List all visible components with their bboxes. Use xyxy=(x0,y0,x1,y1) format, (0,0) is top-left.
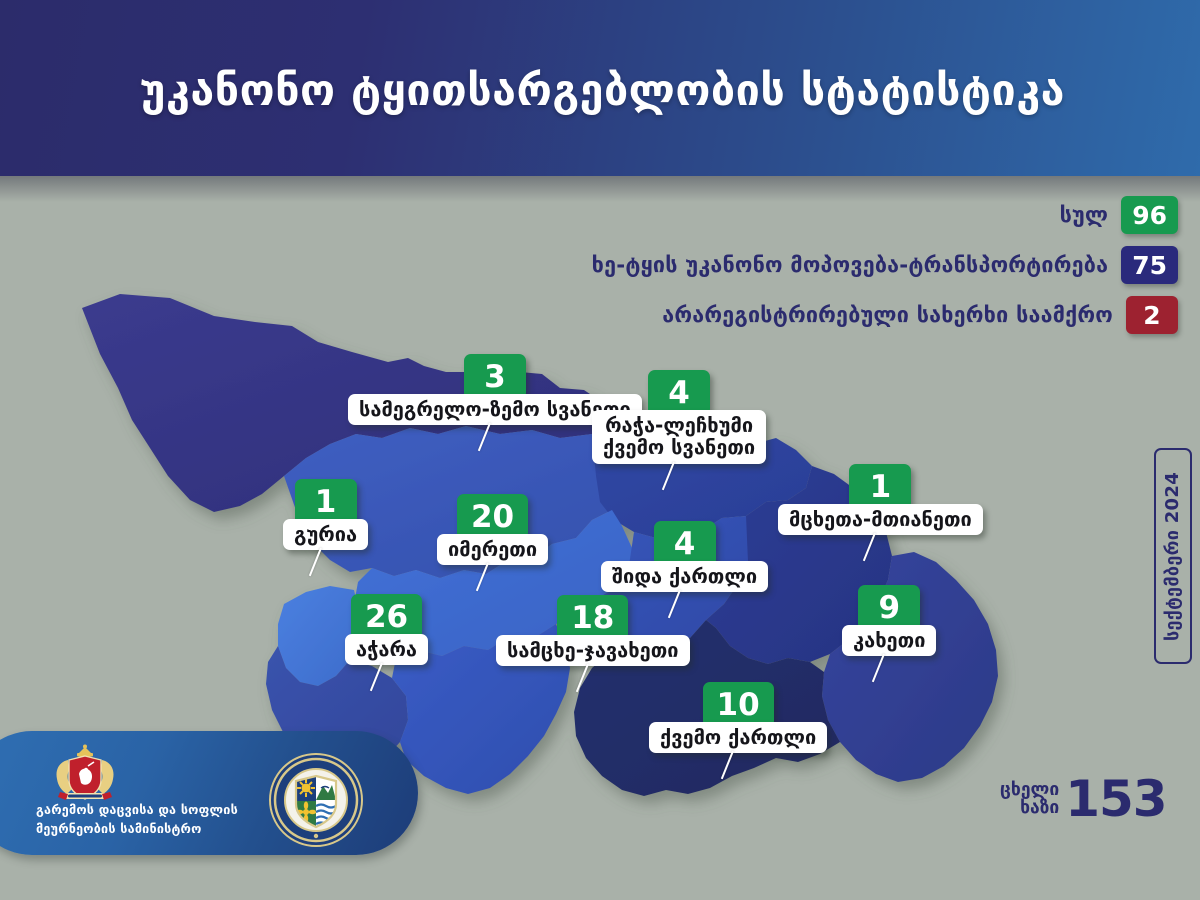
region-name-label: გურია xyxy=(283,519,368,550)
legend-row-total: სულ 96 xyxy=(1060,196,1178,234)
region-name-label: რაჭა-ლეჩხუმიქვემო სვანეთი xyxy=(592,410,766,464)
hotline-label: ცხელი ხაზი xyxy=(1000,781,1059,818)
region-marker: 4შიდა ქართლი xyxy=(601,521,768,592)
legend-label-total: სულ xyxy=(1060,203,1109,228)
region-marker: 26აჭარა xyxy=(345,594,428,665)
region-marker: 10ქვემო ქართლი xyxy=(649,682,827,753)
ministry-name-line2: მეურნეობის სამინისტრო xyxy=(36,819,286,838)
legend-badge-transport: 75 xyxy=(1121,246,1178,284)
region-marker: 20იმერეთი xyxy=(437,494,548,565)
date-tab: სექტემბერი 2024 xyxy=(1154,448,1192,664)
region-name-label: მცხეთა-მთიანეთი xyxy=(778,504,983,535)
page-header: უკანონო ტყითსარგებლობის სტატისტიკა xyxy=(0,0,1200,176)
hotline-number: 153 xyxy=(1065,776,1166,822)
legend: სულ 96 ხე-ტყის უკანონო მოპოვება-ტრანსპორ… xyxy=(592,196,1178,334)
georgia-coat-of-arms xyxy=(46,744,124,806)
hotline: ცხელი ხაზი 153 xyxy=(1000,776,1167,822)
date-tab-label: სექტემბერი 2024 xyxy=(1163,471,1184,640)
ministry-seal xyxy=(268,752,364,848)
ministry-name: გარემოს დაცვისა და სოფლის მეურნეობის სამ… xyxy=(36,800,286,838)
region-marker: 18სამცხე-ჯავახეთი xyxy=(496,595,690,666)
region-name-label: სამცხე-ჯავახეთი xyxy=(496,635,690,666)
region-name-label: იმერეთი xyxy=(437,534,548,565)
region-name-label: შიდა ქართლი xyxy=(601,561,768,592)
region-marker: 1გურია xyxy=(283,479,368,550)
legend-row-transport: ხე-ტყის უკანონო მოპოვება-ტრანსპორტირება … xyxy=(592,246,1178,284)
ministry-name-line1: გარემოს დაცვისა და სოფლის xyxy=(36,800,286,819)
region-name-label: აჭარა xyxy=(345,634,428,665)
region-marker: 4რაჭა-ლეჩხუმიქვემო სვანეთი xyxy=(592,370,766,464)
region-name-label: კახეთი xyxy=(842,625,936,656)
legend-row-sawmill: არარეგისტრირებული სახერხი საამქრო 2 xyxy=(662,296,1178,334)
hotline-word-2: ხაზი xyxy=(1000,799,1059,817)
legend-badge-total: 96 xyxy=(1121,196,1178,234)
page-title: უკანონო ტყითსარგებლობის სტატისტიკა xyxy=(140,66,1065,116)
region-marker: 1მცხეთა-მთიანეთი xyxy=(778,464,983,535)
legend-label-sawmill: არარეგისტრირებული სახერხი საამქრო xyxy=(662,303,1113,328)
infographic-root: უკანონო ტყითსარგებლობის სტატისტიკა xyxy=(0,0,1200,900)
legend-label-transport: ხე-ტყის უკანონო მოპოვება-ტრანსპორტირება xyxy=(592,253,1109,278)
region-marker: 9კახეთი xyxy=(842,585,936,656)
region-name-label: ქვემო ქართლი xyxy=(649,722,827,753)
legend-badge-sawmill: 2 xyxy=(1126,296,1178,334)
hotline-word-1: ცხელი xyxy=(1000,781,1059,799)
